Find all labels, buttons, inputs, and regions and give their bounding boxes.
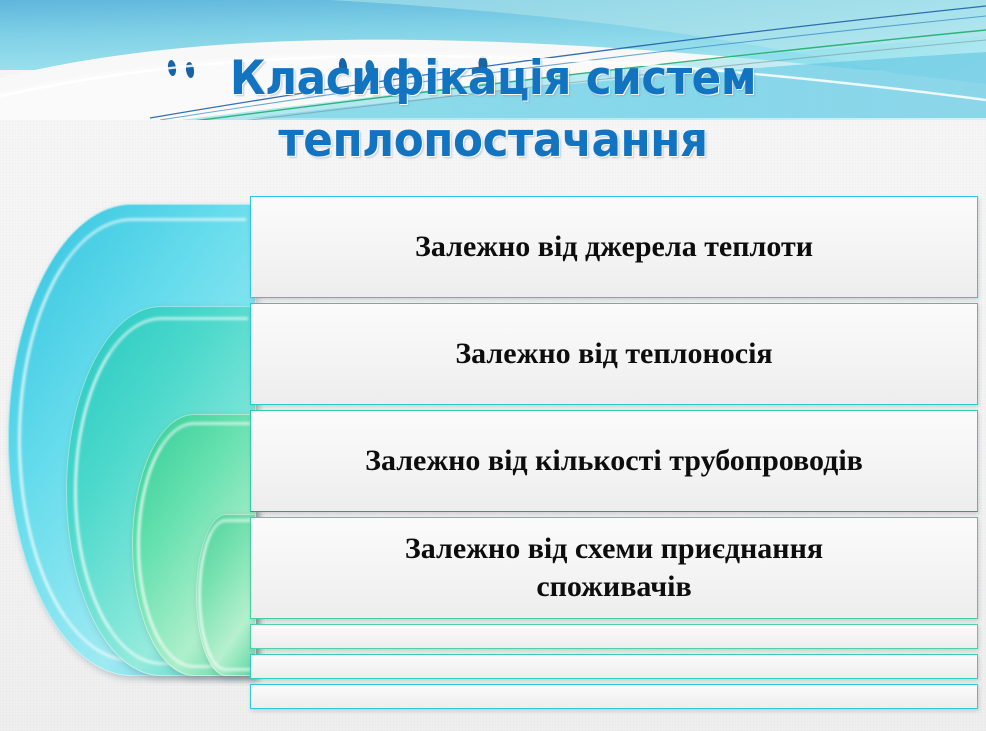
classification-diagram: Залежно від джерела теплоти Залежно від … bbox=[0, 196, 986, 686]
bar-label: Залежно від схеми приєднанняспоживачів bbox=[391, 530, 837, 606]
list-item[interactable]: Залежно від теплоносія bbox=[250, 303, 978, 405]
list-item-empty[interactable] bbox=[250, 654, 978, 679]
bar-label: Залежно від теплоносія bbox=[441, 335, 786, 373]
presentation-slide: Класифікація систем теплопостачання Зале… bbox=[0, 0, 986, 731]
list-item[interactable]: Залежно від джерела теплоти bbox=[250, 196, 978, 298]
title-line-2: теплопостачання bbox=[35, 110, 952, 172]
bar-label: Залежно від кількості трубопроводів bbox=[351, 442, 877, 480]
list-item[interactable]: Залежно від схеми приєднанняспоживачів bbox=[250, 517, 978, 619]
classification-bar-list: Залежно від джерела теплоти Залежно від … bbox=[250, 196, 978, 714]
title-line-1: Класифікація систем bbox=[35, 48, 952, 110]
list-item[interactable]: Залежно від кількості трубопроводів bbox=[250, 410, 978, 512]
bar-label: Залежно від джерела теплоти bbox=[401, 228, 827, 266]
list-item-empty[interactable] bbox=[250, 624, 978, 649]
list-item-empty[interactable] bbox=[250, 684, 978, 709]
page-title: Класифікація систем теплопостачання bbox=[0, 48, 986, 172]
arc-inner bbox=[196, 514, 256, 676]
